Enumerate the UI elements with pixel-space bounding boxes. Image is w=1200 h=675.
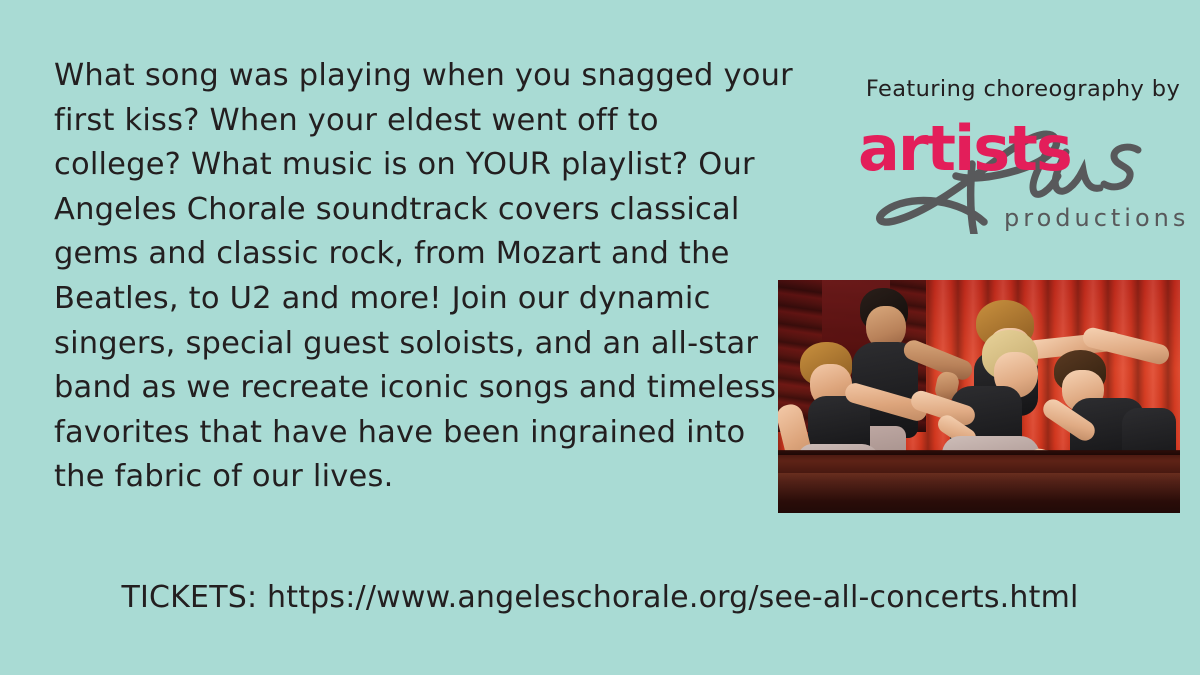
stage-floor-edge (778, 450, 1180, 455)
featuring-credit-label: Featuring choreography by (858, 76, 1188, 102)
tickets-link-line[interactable]: TICKETS: https://www.angeleschorale.org/… (0, 580, 1200, 615)
dancers-stage-photo: Five dancers posed in a low crouching fo… (778, 280, 1180, 513)
logo-artists-text: artists (858, 112, 1071, 185)
stage-floor-reflection (778, 473, 1180, 513)
logo-productions-text: productions (1004, 204, 1189, 232)
promo-paragraph: What song was playing when you snagged y… (54, 54, 794, 500)
artists-plus-productions-logo: artists productions Plus (852, 104, 1192, 234)
logo-svg: artists productions Plus (852, 104, 1192, 234)
poster-canvas: What song was playing when you snagged y… (0, 0, 1200, 675)
